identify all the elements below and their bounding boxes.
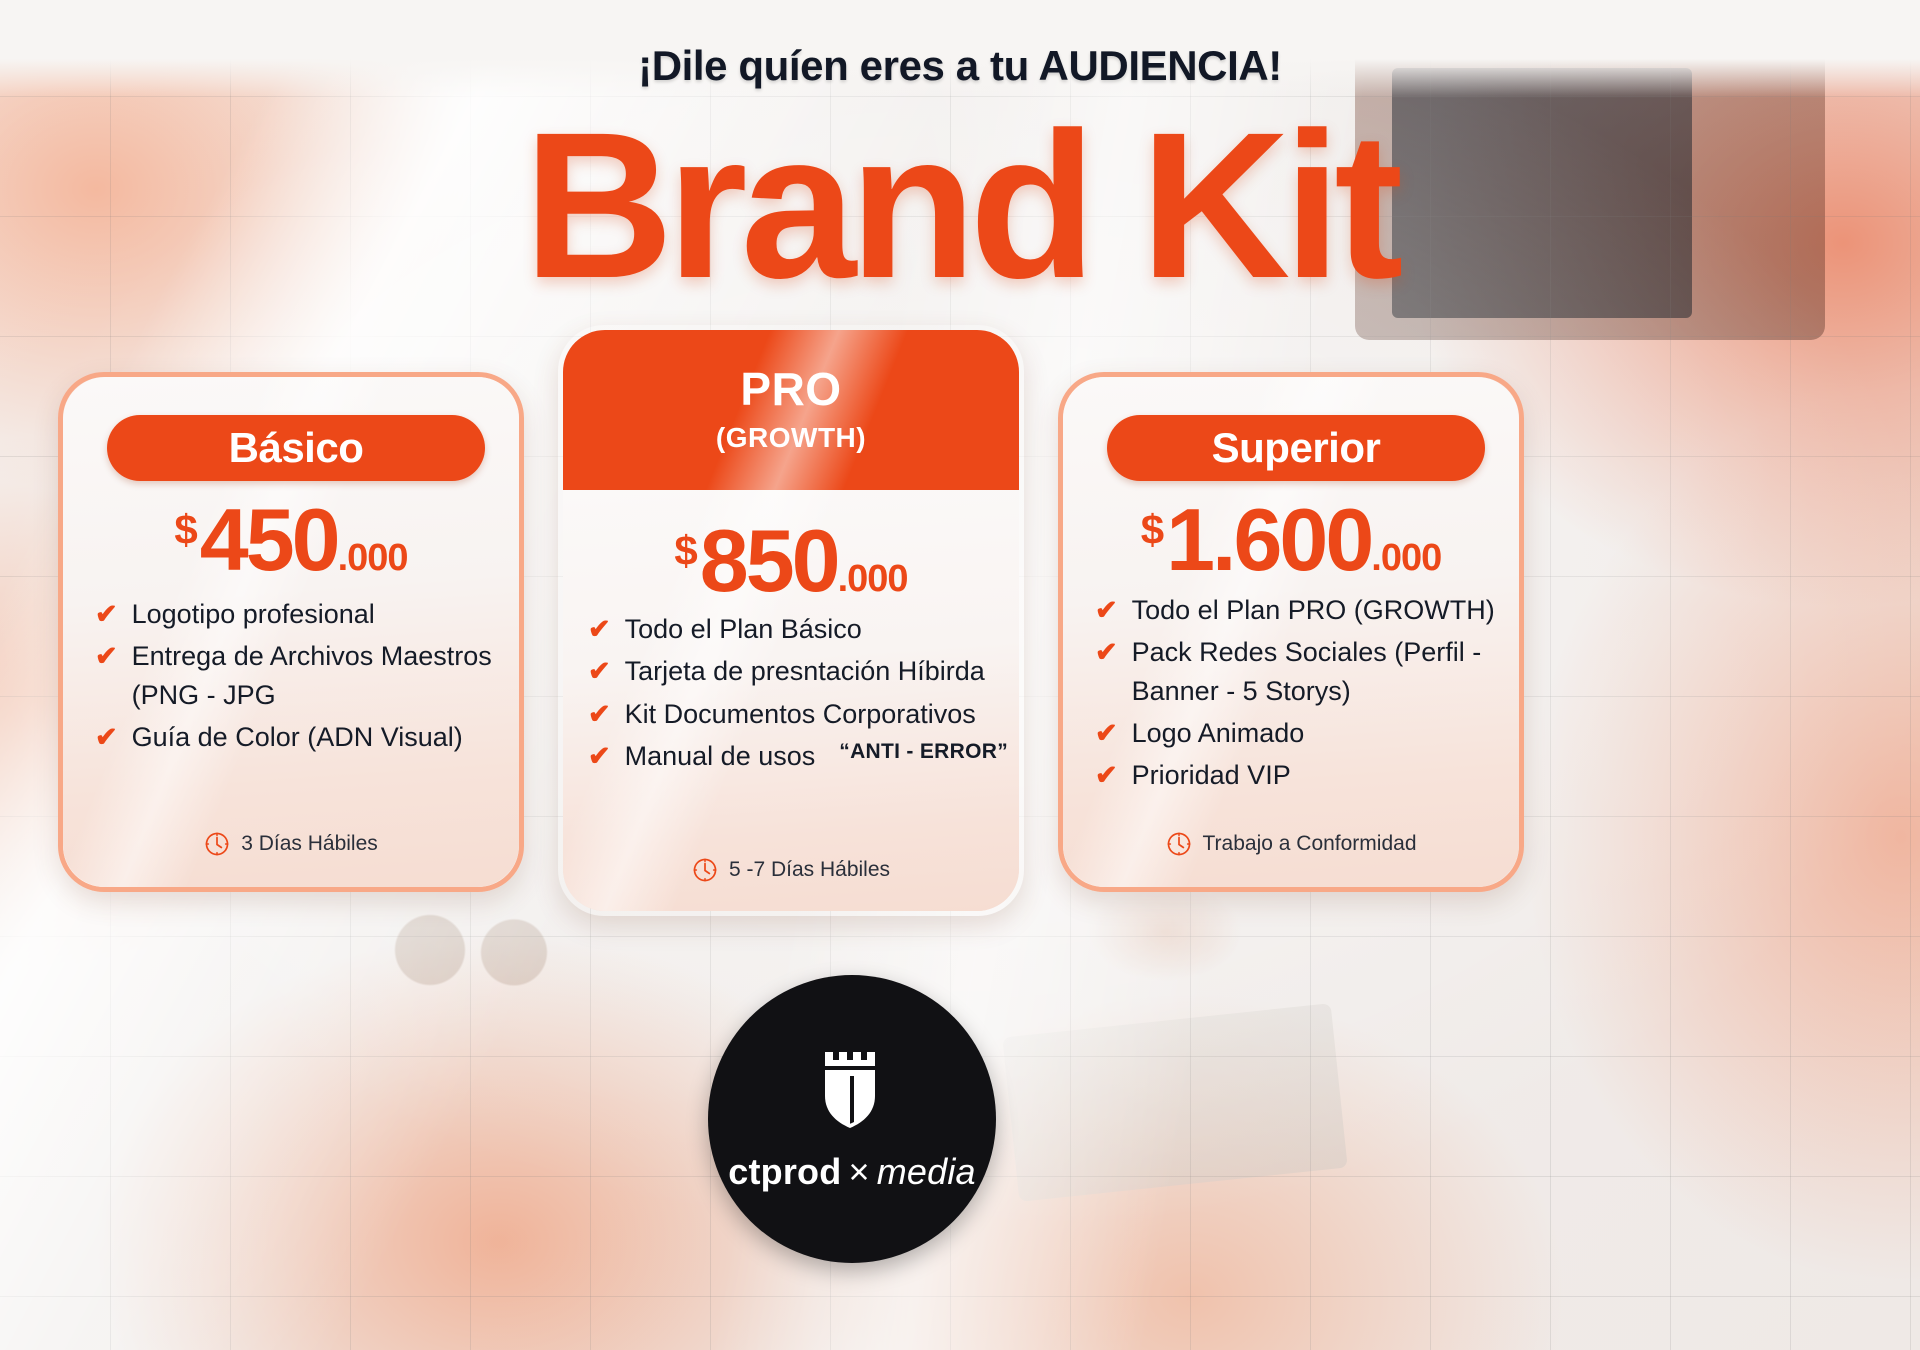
list-item: ✔ Tarjeta de presntación Híbirda — [588, 652, 1008, 690]
check-icon: ✔ — [1095, 714, 1118, 752]
price-amount: 450 — [200, 490, 338, 589]
price-decimals: .000 — [838, 558, 908, 600]
brand-logo-badge[interactable]: ctprod×media — [708, 975, 996, 1263]
feature-text: Kit Documentos Corporativos — [625, 695, 1008, 733]
feature-text: Prioridad VIP — [1132, 756, 1511, 794]
plan-price-basico: $450.000 — [63, 489, 519, 591]
pricing-card-superior[interactable]: Superior $1.600.000 ✔ Todo el Plan PRO (… — [1058, 372, 1524, 892]
pricing-card-pro[interactable]: PRO (GROWTH) $850.000 ✔ Todo el Plan Bás… — [558, 325, 1024, 916]
feature-text: Guía de Color (ADN Visual) — [132, 718, 505, 756]
feature-list-pro: ✔ Todo el Plan Básico ✔ Tarjeta de presn… — [588, 610, 1008, 779]
feature-text: Pack Redes Sociales (Perfil - Banner - 5… — [1132, 633, 1511, 710]
kicker-text: ¡Dile quíen eres a tu AUDIENCIA! — [0, 42, 1920, 90]
logo-separator: × — [848, 1151, 869, 1192]
currency-symbol: $ — [174, 506, 197, 553]
plan-name-badge-superior: Superior — [1107, 415, 1485, 481]
logo-wordmark: ctprod×media — [728, 1151, 976, 1193]
logo-suffix: media — [877, 1151, 976, 1192]
delivery-footer-basico: 3 Días Hábiles — [63, 831, 519, 857]
feature-text: Todo el Plan Básico — [625, 610, 1008, 648]
feature-tag: “ANTI - ERROR” — [839, 737, 1008, 767]
list-item: ✔ Kit Documentos Corporativos — [588, 695, 1008, 733]
plan-price-superior: $1.600.000 — [1063, 489, 1519, 591]
clock-icon — [1166, 831, 1192, 857]
check-icon: ✔ — [588, 695, 611, 733]
feature-text: Logo Animado — [1132, 714, 1511, 752]
feature-list-basico: ✔ Logotipo profesional ✔ Entrega de Arch… — [95, 595, 505, 760]
check-icon: ✔ — [1095, 756, 1118, 794]
poster-canvas: ¡Dile quíen eres a tu AUDIENCIA! Brand K… — [0, 0, 1920, 1350]
list-item: ✔ Todo el Plan PRO (GROWTH) — [1095, 591, 1511, 629]
logo-brand: ctprod — [728, 1151, 841, 1192]
price-decimals: .000 — [1371, 537, 1441, 579]
plan-name-badge-basico: Básico — [107, 415, 485, 481]
list-item: ✔ Entrega de Archivos Maestros (PNG - JP… — [95, 637, 505, 714]
feature-list-superior: ✔ Todo el Plan PRO (GROWTH) ✔ Pack Redes… — [1095, 591, 1511, 799]
page-title: Brand Kit — [0, 108, 1920, 306]
plan-price-pro: $850.000 — [558, 510, 1024, 612]
check-icon: ✔ — [95, 595, 118, 633]
price-decimals: .000 — [338, 537, 408, 579]
feature-text: Entrega de Archivos Maestros (PNG - JPG — [132, 637, 505, 714]
shield-crown-icon — [813, 1046, 891, 1137]
plan-name-pro: PRO — [740, 366, 841, 412]
delivery-footer-pro: 5 -7 Días Hábiles — [558, 857, 1024, 883]
feature-text: Todo el Plan PRO (GROWTH) — [1132, 591, 1511, 629]
clock-icon — [692, 857, 718, 883]
check-icon: ✔ — [1095, 591, 1118, 629]
list-item: ✔ Pack Redes Sociales (Perfil - Banner -… — [1095, 633, 1511, 710]
check-icon: ✔ — [95, 718, 118, 756]
feature-text: Logotipo profesional — [132, 595, 505, 633]
price-amount: 850 — [700, 511, 838, 610]
check-icon: ✔ — [95, 637, 118, 675]
delivery-text: Trabajo a Conformidad — [1203, 832, 1417, 856]
currency-symbol: $ — [1141, 506, 1164, 553]
delivery-footer-superior: Trabajo a Conformidad — [1063, 831, 1519, 857]
currency-symbol: $ — [674, 527, 697, 574]
list-item: ✔ Logo Animado — [1095, 714, 1511, 752]
list-item: ✔ Todo el Plan Básico — [588, 610, 1008, 648]
list-item: ✔ Manual de usos “ANTI - ERROR” — [588, 737, 1008, 775]
delivery-text: 5 -7 Días Hábiles — [729, 858, 890, 882]
price-amount: 1.600 — [1166, 490, 1371, 589]
plan-header-pro: PRO (GROWTH) — [563, 330, 1019, 490]
clock-icon — [204, 831, 230, 857]
check-icon: ✔ — [588, 652, 611, 690]
list-item: ✔ Logotipo profesional — [95, 595, 505, 633]
feature-text: Tarjeta de presntación Híbirda — [625, 652, 1008, 690]
check-icon: ✔ — [1095, 633, 1118, 671]
check-icon: ✔ — [588, 737, 611, 775]
list-item: ✔ Guía de Color (ADN Visual) — [95, 718, 505, 756]
pricing-card-basico[interactable]: Básico $450.000 ✔ Logotipo profesional ✔… — [58, 372, 524, 892]
list-item: ✔ Prioridad VIP — [1095, 756, 1511, 794]
check-icon: ✔ — [588, 610, 611, 648]
delivery-text: 3 Días Hábiles — [241, 832, 378, 856]
plan-subtitle-pro: (GROWTH) — [716, 422, 866, 454]
feature-text: Manual de usos — [625, 737, 832, 775]
